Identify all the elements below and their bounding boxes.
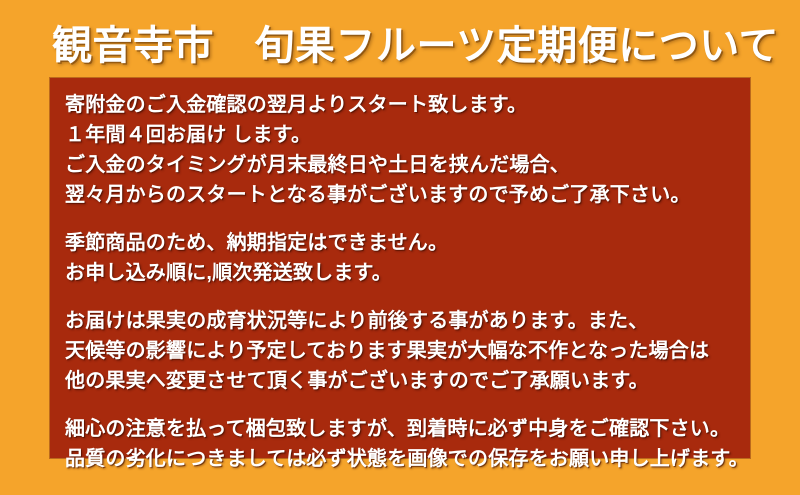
notice-line: 季節商品のため、納期指定はできません。 (65, 228, 750, 258)
notice-line: 品質の劣化につきましては必ず状態を画像での保存をお願い申し上げます。 (65, 444, 750, 474)
notice-line: 寄附金のご入金確認の翌月よりスタート致します。 (65, 90, 750, 120)
notice-line: １年間４回お届け します。 (65, 120, 750, 150)
notice-line: お申し込み順に,順次発送致します。 (65, 258, 750, 288)
notice-paragraph-4: 細心の注意を払って梱包致しますが、到着時に必ず中身をご確認下さい。 品質の劣化に… (65, 414, 750, 474)
page-title: 観音寺市 旬果フルーツ定期便について (52, 14, 752, 70)
notice-panel: 寄附金のご入金確認の翌月よりスタート致します。 １年間４回お届け します。 ご入… (50, 78, 750, 458)
notice-line: 他の果実へ変更させて頂く事がございますのでご了承願います。 (65, 366, 750, 396)
notice-paragraph-3: お届けは果実の成育状況等により前後する事があります。また、 天候等の影響により予… (65, 306, 750, 396)
notice-paragraph-1: 寄附金のご入金確認の翌月よりスタート致します。 １年間４回お届け します。 ご入… (65, 90, 750, 210)
notice-line: 天候等の影響により予定しております果実が大幅な不作となった場合は (65, 336, 750, 366)
notice-line: 細心の注意を払って梱包致しますが、到着時に必ず中身をご確認下さい。 (65, 414, 750, 444)
promotional-poster: 観音寺市 旬果フルーツ定期便について 寄附金のご入金確認の翌月よりスタート致しま… (0, 0, 800, 495)
notice-line: 翌々月からのスタートとなる事がございますので予めご了承下さい。 (65, 180, 750, 210)
notice-line: お届けは果実の成育状況等により前後する事があります。また、 (65, 306, 750, 336)
notice-line: ご入金のタイミングが月末最終日や土日を挟んだ場合、 (65, 150, 750, 180)
notice-paragraph-2: 季節商品のため、納期指定はできません。 お申し込み順に,順次発送致します。 (65, 228, 750, 288)
